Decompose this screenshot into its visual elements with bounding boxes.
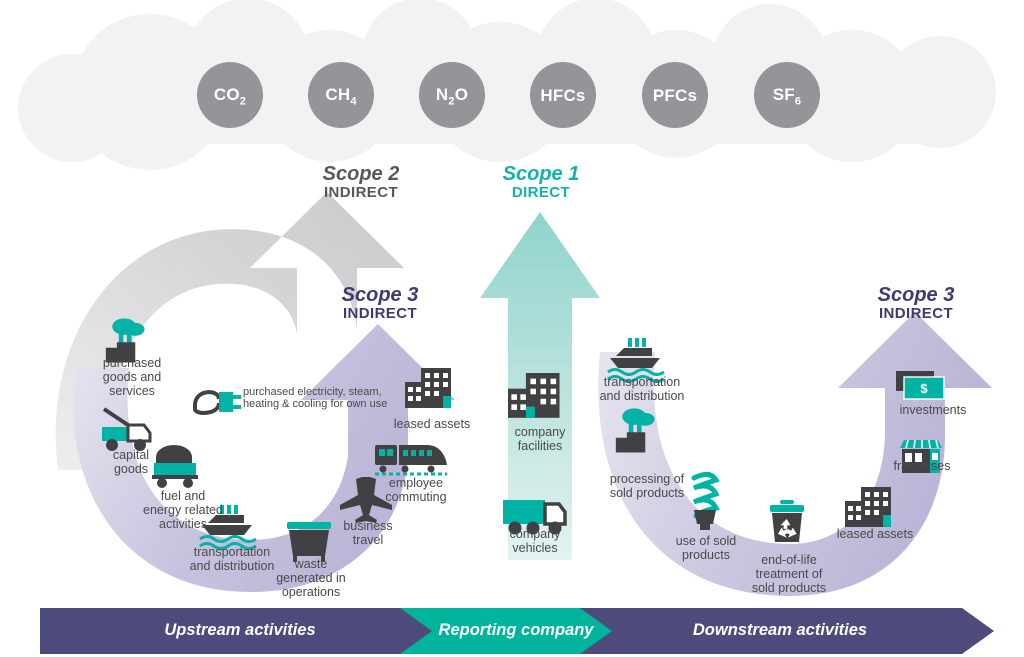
ghg-label-ch4: CH4 [311, 85, 371, 107]
ghg-label-co2: CO2 [200, 85, 260, 107]
band-label-upstream[interactable]: Upstream activities [60, 621, 420, 640]
label-company-vehicles: company vehicles [490, 527, 580, 555]
scope-3-downstream-title: Scope 3 INDIRECT [836, 284, 996, 323]
scope-1-name: Scope 1 [461, 163, 621, 185]
label-processing-sold: processing of sold products [595, 472, 699, 500]
ghg-scopes-diagram: $ CO2 CH4 N2O HFCs PFCs SF6 Scope 2 INDI… [0, 0, 1024, 657]
label-purchased-goods: purchased goods and services [83, 356, 181, 398]
scope-3-downstream-subtitle: INDIRECT [836, 306, 996, 323]
band-label-reporting[interactable]: Reporting company [416, 621, 616, 640]
label-transportation-down: transportation and distribution [580, 375, 704, 403]
svg-text:$: $ [920, 381, 928, 396]
label-investments: investments [889, 403, 977, 417]
label-fuel-energy: fuel and energy related activities [127, 489, 239, 531]
ghg-label-pfcs: PFCs [645, 86, 705, 106]
label-waste: waste generated in operations [266, 557, 356, 599]
scope-3-upstream-subtitle: INDIRECT [300, 306, 460, 323]
label-franchises: franchises [881, 459, 963, 473]
ghg-label-sf6: SF6 [757, 85, 817, 107]
ghg-label-hfcs: HFCs [533, 86, 593, 106]
label-purchased-electricity: purchased electricity, steam, heating & … [243, 386, 423, 411]
scope-2-subtitle: INDIRECT [281, 185, 441, 202]
diagram-canvas: $ [0, 0, 1024, 657]
scope-1-title: Scope 1 DIRECT [461, 163, 621, 202]
ghg-label-n2o: N2O [422, 85, 482, 107]
label-leased-assets-upstream: leased assets [387, 417, 477, 431]
scope-3-upstream-title: Scope 3 INDIRECT [300, 284, 460, 323]
scope-3-upstream-name: Scope 3 [300, 284, 460, 306]
label-capital-goods: capital goods [93, 448, 169, 476]
scope-3-downstream-name: Scope 3 [836, 284, 996, 306]
recycle-bin-icon [770, 500, 804, 542]
label-employee-commuting: employee commuting [374, 476, 458, 504]
power-plug-icon [195, 392, 241, 413]
label-company-facilities: company facilities [495, 425, 585, 453]
train-icon [375, 445, 447, 474]
emissions-cloud [18, 0, 996, 170]
band-label-downstream[interactable]: Downstream activities [600, 621, 960, 640]
scope-1-subtitle: DIRECT [461, 185, 621, 202]
scope-2-title: Scope 2 INDIRECT [281, 163, 441, 202]
scope-2-name: Scope 2 [281, 163, 441, 185]
office-building-icon [845, 487, 891, 527]
label-leased-assets-downstream: leased assets [825, 527, 925, 541]
label-business-travel: business travel [330, 519, 406, 547]
label-end-of-life: end-of-life treatment of sold products [742, 553, 836, 595]
label-use-of-sold: use of sold products [661, 534, 751, 562]
